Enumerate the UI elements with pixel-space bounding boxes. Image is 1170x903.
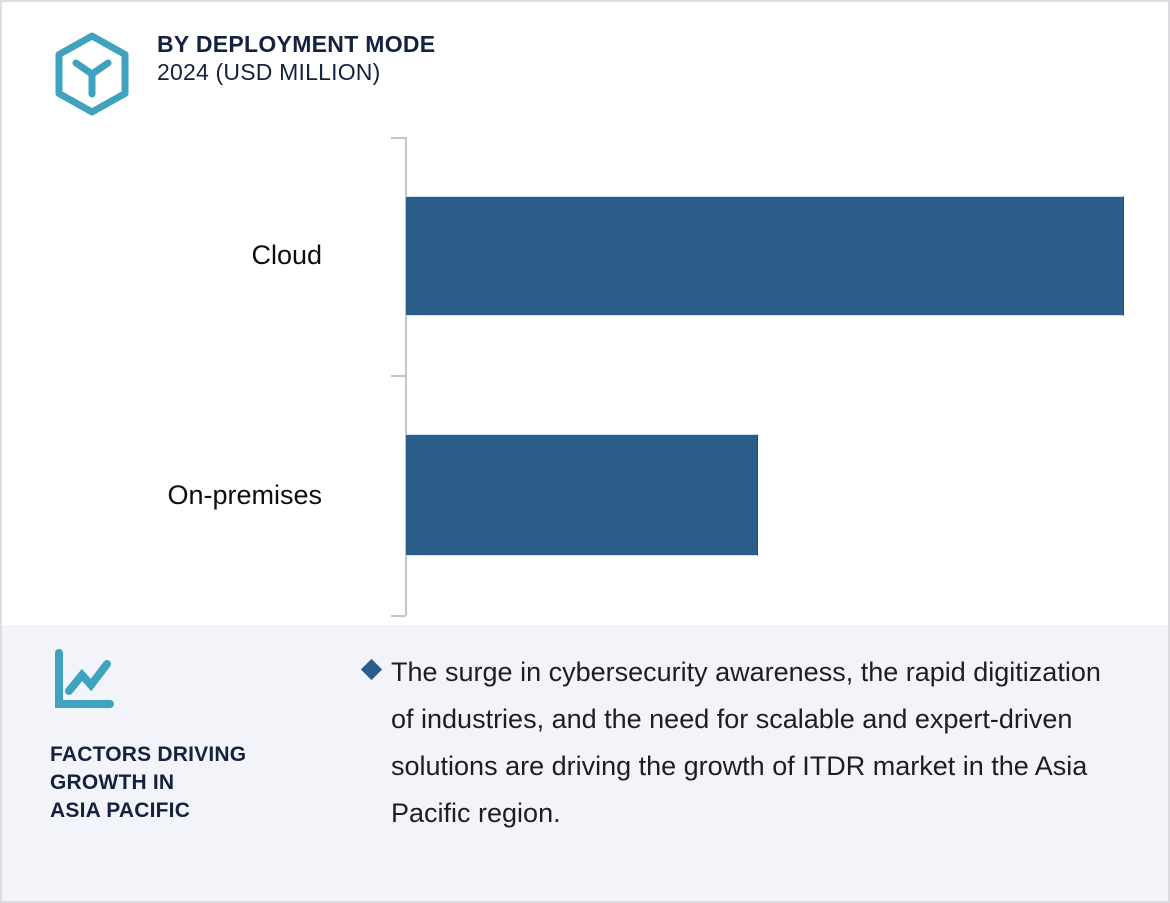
footer-left-column: FACTORS DRIVING GROWTH IN ASIA PACIFIC: [50, 647, 340, 825]
bar-chart: Cloud On-premises: [2, 122, 1170, 625]
bar-cloud: [406, 196, 1124, 316]
footer-title: FACTORS DRIVING GROWTH IN ASIA PACIFIC: [50, 741, 340, 825]
footer-title-line-3: ASIA PACIFIC: [50, 797, 340, 825]
page-subtitle: 2024 (USD MILLION): [157, 57, 435, 87]
footer-insight-block: The surge in cybersecurity awareness, th…: [364, 649, 1104, 837]
category-label-cloud: Cloud: [2, 240, 362, 271]
insight-footer: FACTORS DRIVING GROWTH IN ASIA PACIFIC T…: [2, 625, 1168, 901]
hexagon-y-icon: [50, 32, 134, 116]
axis-tick-bottom: [391, 615, 406, 617]
page-title: BY DEPLOYMENT MODE: [157, 31, 435, 57]
bar-on-premises: [406, 434, 758, 556]
insight-text: The surge in cybersecurity awareness, th…: [391, 649, 1104, 837]
card-header: BY DEPLOYMENT MODE 2024 (USD MILLION): [2, 2, 1170, 122]
footer-title-line-1: FACTORS DRIVING: [50, 741, 340, 769]
category-label-on-premises: On-premises: [2, 480, 362, 511]
axis-tick-top: [391, 137, 406, 139]
header-text-block: BY DEPLOYMENT MODE 2024 (USD MILLION): [157, 31, 435, 87]
axis-tick-middle: [391, 375, 406, 377]
trend-chart-icon: [50, 647, 116, 713]
diamond-bullet-icon: [361, 659, 382, 680]
chart-card: BY DEPLOYMENT MODE 2024 (USD MILLION) Cl…: [0, 0, 1170, 903]
footer-title-line-2: GROWTH IN: [50, 769, 340, 797]
